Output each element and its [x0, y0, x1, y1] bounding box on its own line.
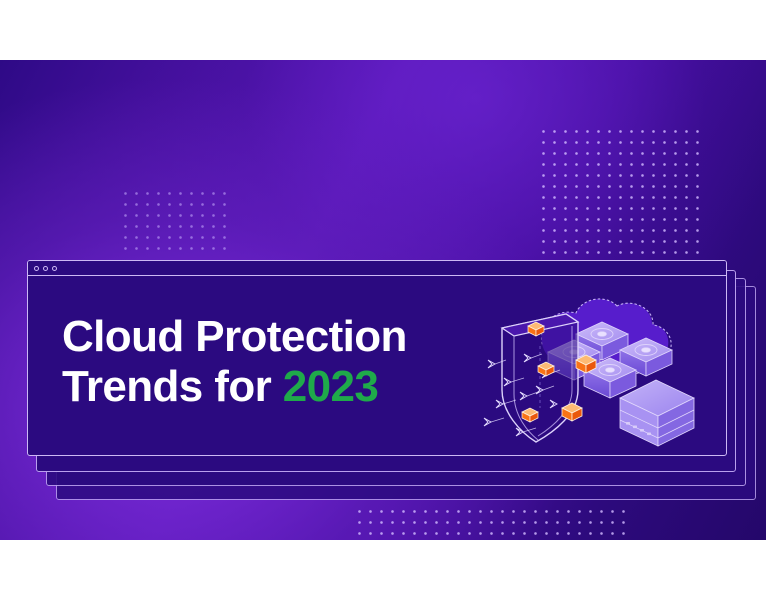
- dot-pattern-bottom: [352, 504, 628, 540]
- browser-window: Cloud ProtectionTrends for 2023: [27, 260, 727, 456]
- headline-line-2-prefix: Trends for: [62, 362, 283, 411]
- server-rack: [620, 380, 694, 446]
- page-title: Cloud ProtectionTrends for 2023: [62, 312, 482, 412]
- purple-banner: Cloud ProtectionTrends for 2023: [0, 60, 766, 540]
- window-content: Cloud ProtectionTrends for 2023: [28, 276, 726, 456]
- window-dot-2-icon[interactable]: [43, 266, 48, 271]
- dot-pattern-left: [118, 186, 230, 256]
- dot-pattern-top-right: [536, 124, 703, 257]
- cloud-security-illustration: [480, 282, 712, 454]
- window-dot-1-icon[interactable]: [34, 266, 39, 271]
- headline-year: 2023: [283, 362, 378, 411]
- window-dot-3-icon[interactable]: [52, 266, 57, 271]
- window-title-bar: [28, 261, 726, 276]
- headline-line-1: Cloud Protection: [62, 312, 407, 361]
- poster-canvas: Cloud ProtectionTrends for 2023: [0, 0, 766, 600]
